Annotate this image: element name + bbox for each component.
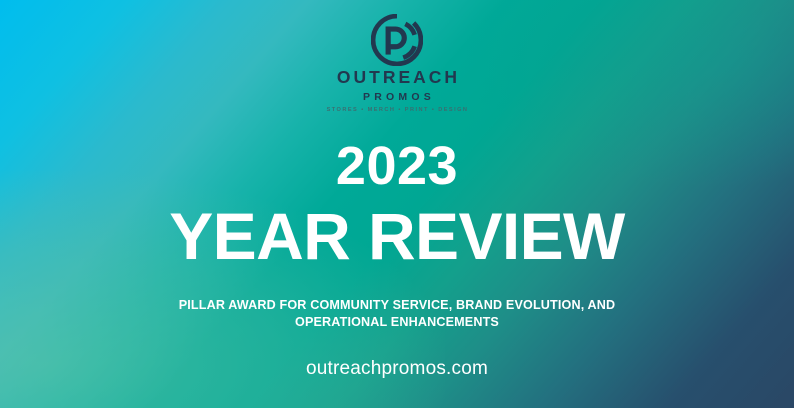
hero-website-url: outreachpromos.com [306, 359, 488, 378]
brand-wordmark: OUTREACH [334, 69, 460, 87]
outreach-promos-logo-icon [371, 14, 423, 66]
card-content: OUTREACH PROMOS STORES • MERCH • PRINT •… [0, 0, 794, 408]
hero-subtitle: PILLAR AWARD FOR COMMUNITY SERVICE, BRAN… [137, 297, 657, 333]
year-review-title-card: OUTREACH PROMOS STORES • MERCH • PRINT •… [0, 0, 794, 408]
brand-logo-lockup: OUTREACH PROMOS STORES • MERCH • PRINT •… [326, 14, 469, 114]
brand-sub-wordmark: PROMOS [359, 92, 435, 103]
hero-headline: YEAR REVIEW [169, 203, 624, 269]
hero-year: 2023 [336, 139, 458, 193]
brand-tagline: STORES • MERCH • PRINT • DESIGN [326, 108, 469, 114]
